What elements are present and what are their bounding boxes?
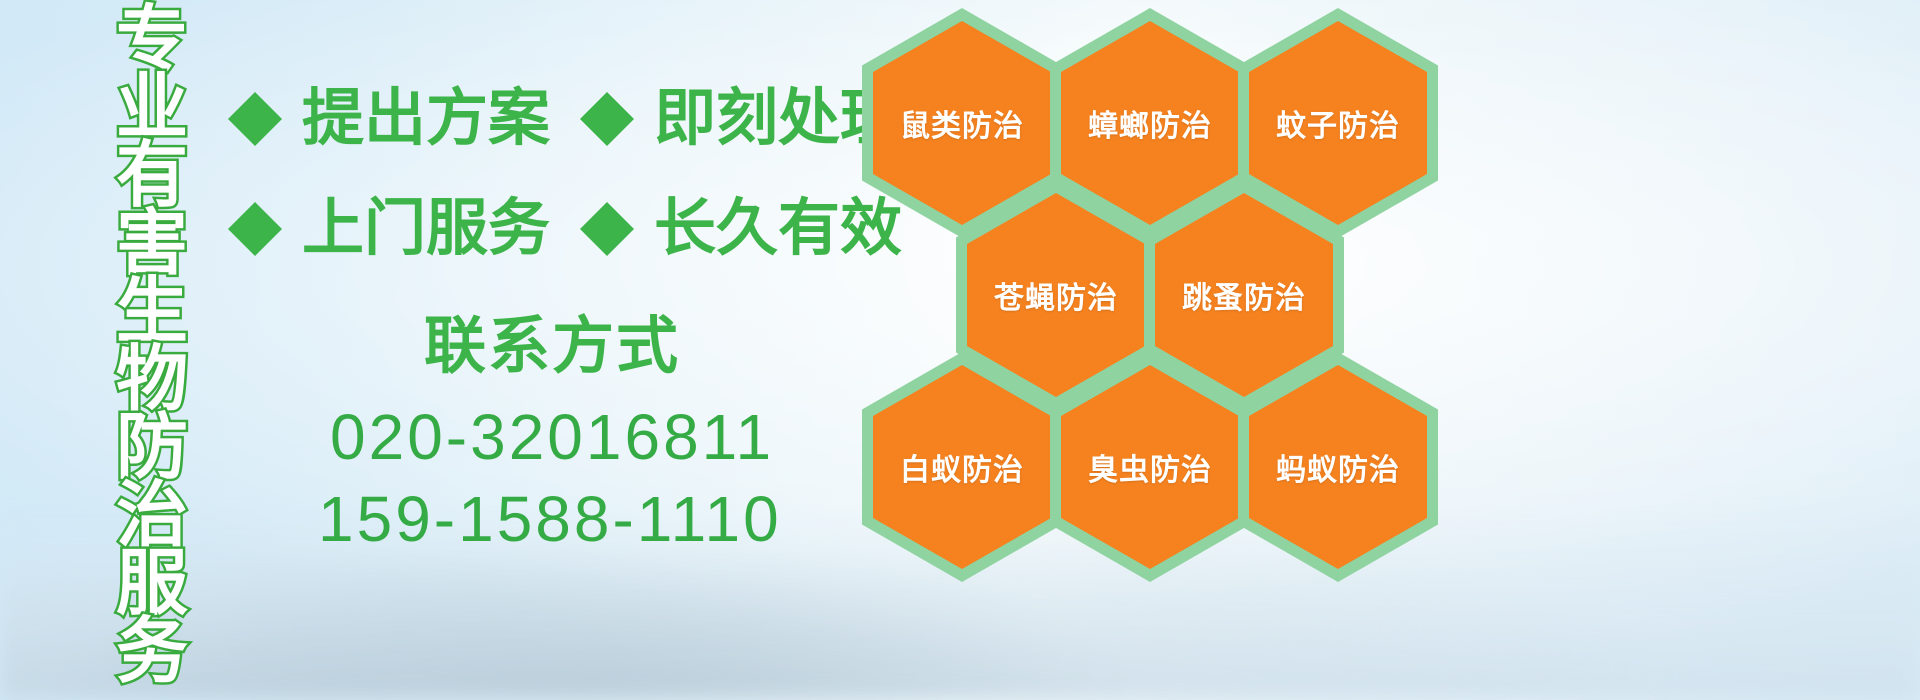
- hexagon-service-label: 苍蝇防治: [994, 273, 1118, 317]
- vertical-headline-char: 治: [116, 482, 188, 550]
- hexagon-fill: 蚂蚁防治: [1249, 365, 1427, 569]
- phone-number-landline[interactable]: 020-32016811: [330, 405, 774, 469]
- phone-number-mobile[interactable]: 159-1588-1110: [318, 487, 782, 551]
- vertical-headline: 专 业 有 害 生 物 防 治 服 务: [104, 6, 200, 558]
- diamond-bullet-icon: [580, 65, 634, 119]
- vertical-headline-char: 业: [116, 74, 188, 142]
- vertical-headline-char: 服: [116, 550, 188, 618]
- hexagon-service-label: 蚊子防治: [1276, 101, 1400, 145]
- feature-row-2: 上门服务 长久有效: [228, 198, 902, 260]
- hexagon-service-label: 跳蚤防治: [1182, 273, 1306, 317]
- hexagon-fill: 蟑螂防治: [1061, 21, 1239, 225]
- hexagon-fill: 白蚁防治: [873, 365, 1051, 569]
- diamond-bullet-icon: [580, 175, 634, 229]
- feature-label: 上门服务: [302, 198, 550, 260]
- vertical-headline-char: 有: [116, 142, 188, 210]
- hexagon-fill: 鼠类防治: [873, 21, 1051, 225]
- hexagon-service-label: 臭虫防治: [1088, 445, 1212, 489]
- service-hexagon-grid: 鼠类防治蟑螂防治蚊子防治苍蝇防治跳蚤防治白蚁防治臭虫防治蚂蚁防治: [862, 0, 1442, 700]
- hexagon-fill: 苍蝇防治: [967, 193, 1145, 397]
- contact-heading: 联系方式: [424, 316, 680, 378]
- vertical-headline-char: 专: [116, 6, 188, 74]
- vertical-headline-char: 生: [116, 278, 188, 346]
- hexagon-fill: 跳蚤防治: [1155, 193, 1333, 397]
- diamond-bullet-icon: [228, 65, 282, 119]
- hexagon-fill: 臭虫防治: [1061, 365, 1239, 569]
- banner-canvas: 专 业 有 害 生 物 防 治 服 务 提出方案 即刻处理 上门服务 长久有效 …: [0, 0, 1920, 700]
- vertical-headline-char: 害: [116, 210, 188, 278]
- hexagon-service-label: 白蚁防治: [900, 445, 1024, 489]
- vertical-headline-char: 防: [116, 414, 188, 482]
- feature-row-1: 提出方案 即刻处理: [228, 88, 902, 150]
- hexagon-fill: 蚊子防治: [1249, 21, 1427, 225]
- vertical-headline-char: 务: [116, 618, 188, 686]
- vertical-headline-char: 物: [116, 346, 188, 414]
- hexagon-service-label: 蟑螂防治: [1088, 101, 1212, 145]
- feature-label: 提出方案: [302, 88, 550, 150]
- diamond-bullet-icon: [228, 175, 282, 229]
- hexagon-service-label: 鼠类防治: [900, 101, 1024, 145]
- hexagon-service-label: 蚂蚁防治: [1276, 445, 1400, 489]
